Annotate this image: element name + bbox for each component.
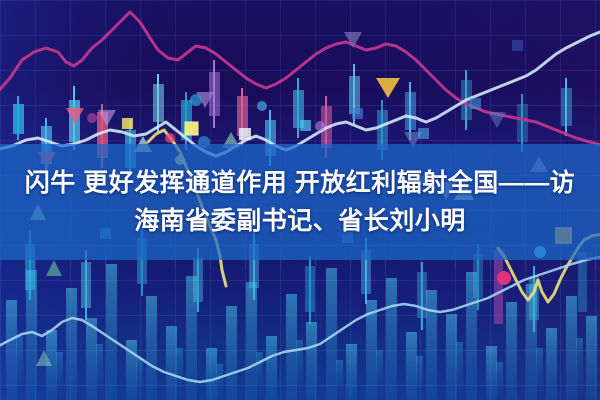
square-marker bbox=[300, 120, 311, 131]
headline-line-1: 闪牛 更好发挥通道作用 开放红利辐射全国——访 bbox=[25, 164, 575, 202]
news-banner: 闪牛 更好发挥通道作用 开放红利辐射全国——访 海南省委副书记、省长刘小明 bbox=[0, 0, 600, 400]
square-marker bbox=[122, 118, 133, 129]
square-marker bbox=[470, 98, 481, 109]
circle-marker bbox=[190, 94, 202, 106]
square-marker bbox=[512, 40, 523, 51]
square-marker bbox=[239, 128, 251, 140]
circle-marker bbox=[497, 271, 511, 285]
headline-line-2: 海南省委副书记、省长刘小明 bbox=[134, 202, 466, 240]
circle-marker bbox=[165, 133, 175, 143]
circle-marker bbox=[87, 113, 97, 123]
circle-marker bbox=[315, 121, 325, 131]
square-marker bbox=[352, 108, 363, 119]
circle-marker bbox=[257, 101, 267, 111]
square-marker bbox=[185, 122, 198, 135]
headline-text: 闪牛 更好发挥通道作用 开放红利辐射全国——访 海南省委副书记、省长刘小明 bbox=[0, 144, 600, 260]
square-marker bbox=[418, 128, 429, 139]
